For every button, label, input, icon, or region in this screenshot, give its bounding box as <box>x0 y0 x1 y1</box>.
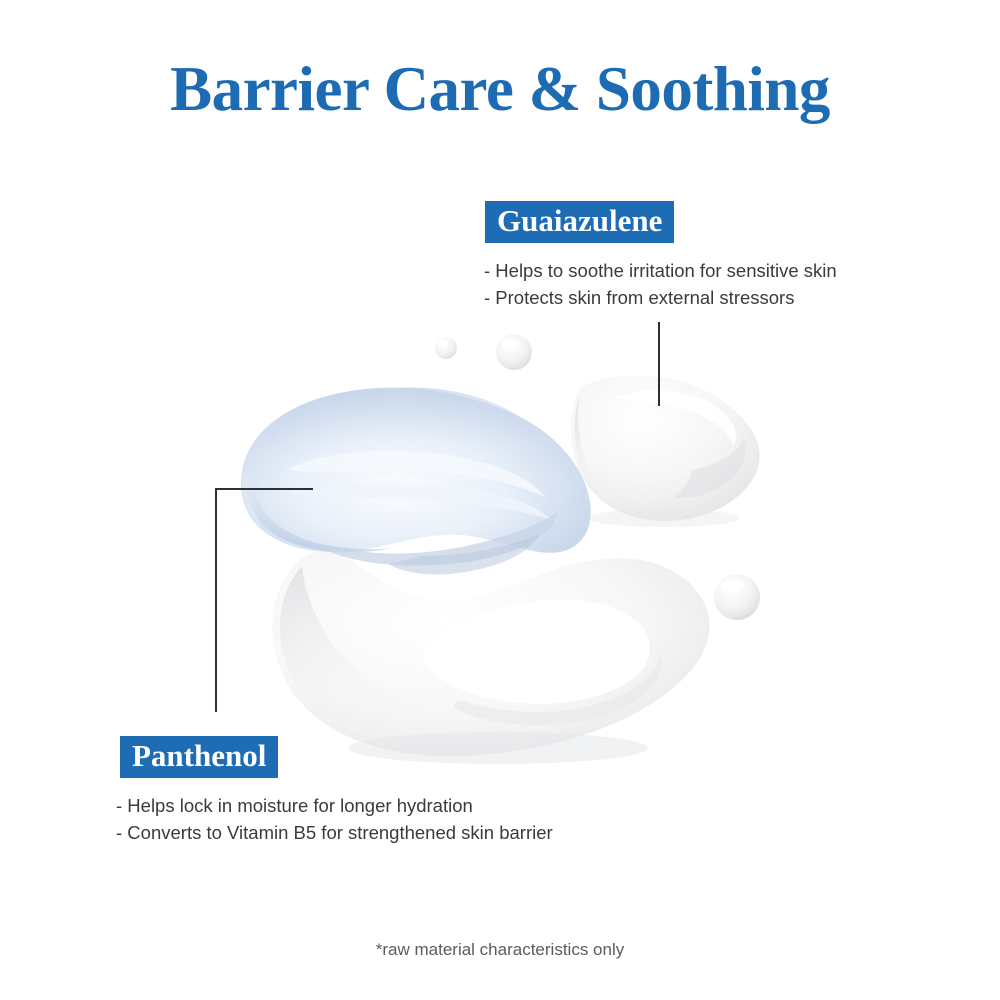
ingredient-badge-panthenol: Panthenol <box>120 736 278 778</box>
ingredient-bullets-guaiazulene: - Helps to soothe irritation for sensiti… <box>484 257 837 311</box>
infographic-canvas: Barrier Care & Soothing Guaiazulene - He… <box>0 0 1000 1000</box>
droplet-small <box>435 337 457 359</box>
white-cream-swatch <box>272 552 709 764</box>
droplet-medium <box>496 334 532 370</box>
clear-gel-swatch <box>571 376 760 528</box>
bullet-item: - Converts to Vitamin B5 for strengthene… <box>116 819 553 846</box>
leader-line-panthenol-vertical <box>215 488 217 712</box>
blue-cream-swatch <box>241 387 591 574</box>
droplet-right <box>714 574 760 620</box>
cosmetic-texture-artwork <box>0 0 1000 1000</box>
bullet-item: - Helps lock in moisture for longer hydr… <box>116 792 553 819</box>
bullet-item: - Helps to soothe irritation for sensiti… <box>484 257 837 284</box>
bullet-item: - Protects skin from external stressors <box>484 284 837 311</box>
ingredient-bullets-panthenol: - Helps lock in moisture for longer hydr… <box>116 792 553 846</box>
leader-line-guaiazulene <box>658 322 660 406</box>
leader-line-panthenol-horizontal <box>215 488 313 490</box>
page-title: Barrier Care & Soothing <box>0 58 1000 121</box>
ingredient-badge-guaiazulene: Guaiazulene <box>485 201 674 243</box>
footnote-disclaimer: *raw material characteristics only <box>0 940 1000 960</box>
